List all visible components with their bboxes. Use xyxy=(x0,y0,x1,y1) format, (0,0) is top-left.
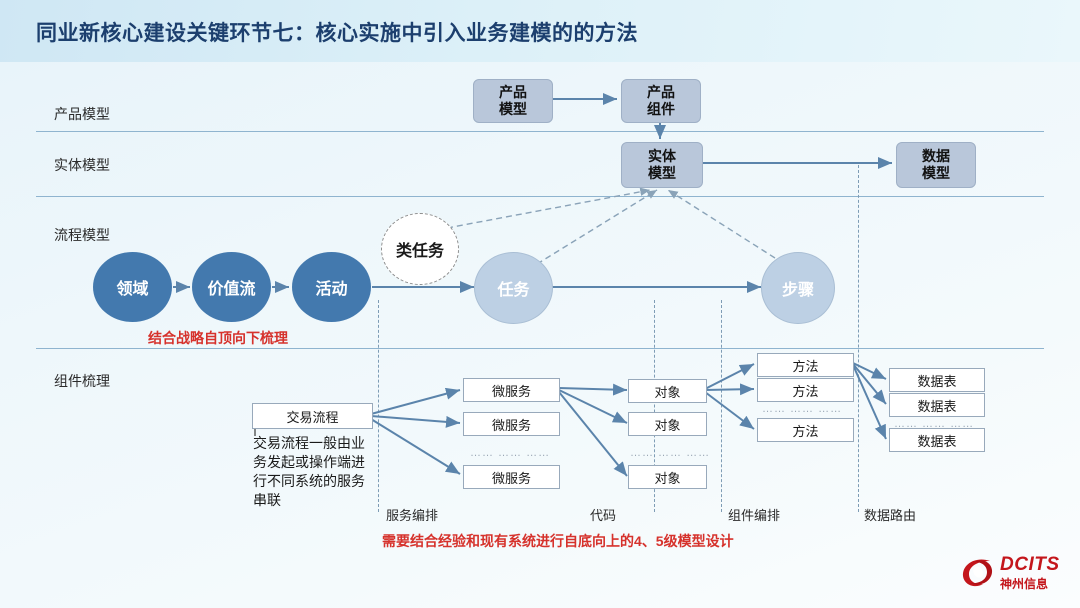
box-data-table-1[interactable]: 数据表 xyxy=(889,368,985,392)
column-label-data-routing: 数据路由 xyxy=(864,505,916,524)
note-bottom-up: 需要结合经验和现有系统进行自底向上的4、5级模型设计 xyxy=(382,531,734,551)
box-trade-flow-label: 交易流程 xyxy=(286,407,338,426)
circle-task-label: 任务 xyxy=(497,276,529,300)
box-object-2[interactable]: 对象 xyxy=(628,412,707,436)
box-object-3-label: 对象 xyxy=(654,468,680,487)
circle-value-stream[interactable]: 价值流 xyxy=(192,252,271,322)
box-object-1[interactable]: 对象 xyxy=(628,379,707,403)
company-logo: DCITS 神州信息 xyxy=(958,552,1070,598)
box-product-model-label: 产品 模型 xyxy=(499,84,527,118)
box-data-table-2[interactable]: 数据表 xyxy=(889,393,985,417)
circle-domain-label: 领域 xyxy=(116,275,148,299)
box-product-component[interactable]: 产品 组件 xyxy=(621,79,701,123)
box-method-3-label: 方法 xyxy=(792,421,818,440)
row-label-product-model: 产品模型 xyxy=(54,104,110,124)
band-separator-2 xyxy=(36,196,1044,197)
circle-domain[interactable]: 领域 xyxy=(93,252,172,322)
box-object-2-label: 对象 xyxy=(654,415,680,434)
ellipsis-method: …… …… …… xyxy=(762,403,842,415)
box-object-3[interactable]: 对象 xyxy=(628,465,707,489)
box-microservice-1-label: 微服务 xyxy=(492,381,531,400)
band-separator-3 xyxy=(36,348,1044,349)
box-method-1[interactable]: 方法 xyxy=(757,353,854,377)
box-data-table-3[interactable]: 数据表 xyxy=(889,428,985,452)
circle-value-stream-label: 价值流 xyxy=(207,275,255,299)
row-label-entity-model: 实体模型 xyxy=(54,155,110,175)
circle-task[interactable]: 任务 xyxy=(474,252,553,324)
box-method-3[interactable]: 方法 xyxy=(757,418,854,442)
guide-line-component xyxy=(721,300,722,512)
box-method-2-label: 方法 xyxy=(792,381,818,400)
circle-step-label: 步骤 xyxy=(782,276,814,300)
circle-class-task[interactable]: 类任务 xyxy=(381,213,459,285)
box-data-table-2-label: 数据表 xyxy=(917,396,956,415)
box-method-1-label: 方法 xyxy=(792,356,818,375)
row-label-component-sort: 组件梳理 xyxy=(54,371,110,391)
column-label-code: 代码 xyxy=(590,505,616,524)
box-product-component-label: 产品 组件 xyxy=(647,84,675,118)
circle-activity-label: 活动 xyxy=(315,275,347,299)
box-entity-model-label: 实体 模型 xyxy=(648,148,676,182)
note-top-down: 结合战略自顶向下梳理 xyxy=(148,328,288,348)
slide-header: 同业新核心建设关键环节七：核心实施中引入业务建模的的方法 xyxy=(0,0,1080,62)
box-method-2[interactable]: 方法 xyxy=(757,378,854,402)
circle-step[interactable]: 步骤 xyxy=(761,252,835,324)
box-object-1-label: 对象 xyxy=(654,382,680,401)
guide-line-service xyxy=(378,300,379,512)
logo-text-top: DCITS xyxy=(1000,554,1060,576)
box-microservice-3[interactable]: 微服务 xyxy=(463,465,560,489)
circle-activity[interactable]: 活动 xyxy=(292,252,371,322)
trade-flow-description: 交易流程一般由业务发起或操作端进行不同系统的服务串联 xyxy=(253,434,373,510)
box-data-model[interactable]: 数据 模型 xyxy=(896,142,976,188)
circle-class-task-label: 类任务 xyxy=(396,237,444,261)
box-microservice-1[interactable]: 微服务 xyxy=(463,378,560,402)
box-data-table-3-label: 数据表 xyxy=(917,431,956,450)
page-title: 同业新核心建设关键环节七：核心实施中引入业务建模的的方法 xyxy=(36,17,638,47)
box-microservice-3-label: 微服务 xyxy=(492,468,531,487)
column-label-component-orchestration: 组件编排 xyxy=(728,505,780,524)
row-label-process-model: 流程模型 xyxy=(54,225,110,245)
box-product-model[interactable]: 产品 模型 xyxy=(473,79,553,123)
box-trade-flow[interactable]: 交易流程 xyxy=(252,403,373,429)
band-separator-1 xyxy=(36,131,1044,132)
slide-canvas: 同业新核心建设关键环节七：核心实施中引入业务建模的的方法 产品模型 实体模型 流… xyxy=(0,0,1080,608)
box-data-table-1-label: 数据表 xyxy=(917,371,956,390)
dcits-swirl-icon xyxy=(958,552,998,592)
column-label-service-orchestration: 服务编排 xyxy=(386,505,438,524)
box-entity-model[interactable]: 实体 模型 xyxy=(621,142,703,188)
box-microservice-2-label: 微服务 xyxy=(492,415,531,434)
box-data-model-label: 数据 模型 xyxy=(922,148,950,182)
logo-text-bottom: 神州信息 xyxy=(1000,575,1048,592)
guide-line-data xyxy=(858,165,859,512)
ellipsis-object: …… …… …… xyxy=(630,447,710,459)
box-microservice-2[interactable]: 微服务 xyxy=(463,412,560,436)
ellipsis-microservice: …… …… …… xyxy=(470,447,550,459)
